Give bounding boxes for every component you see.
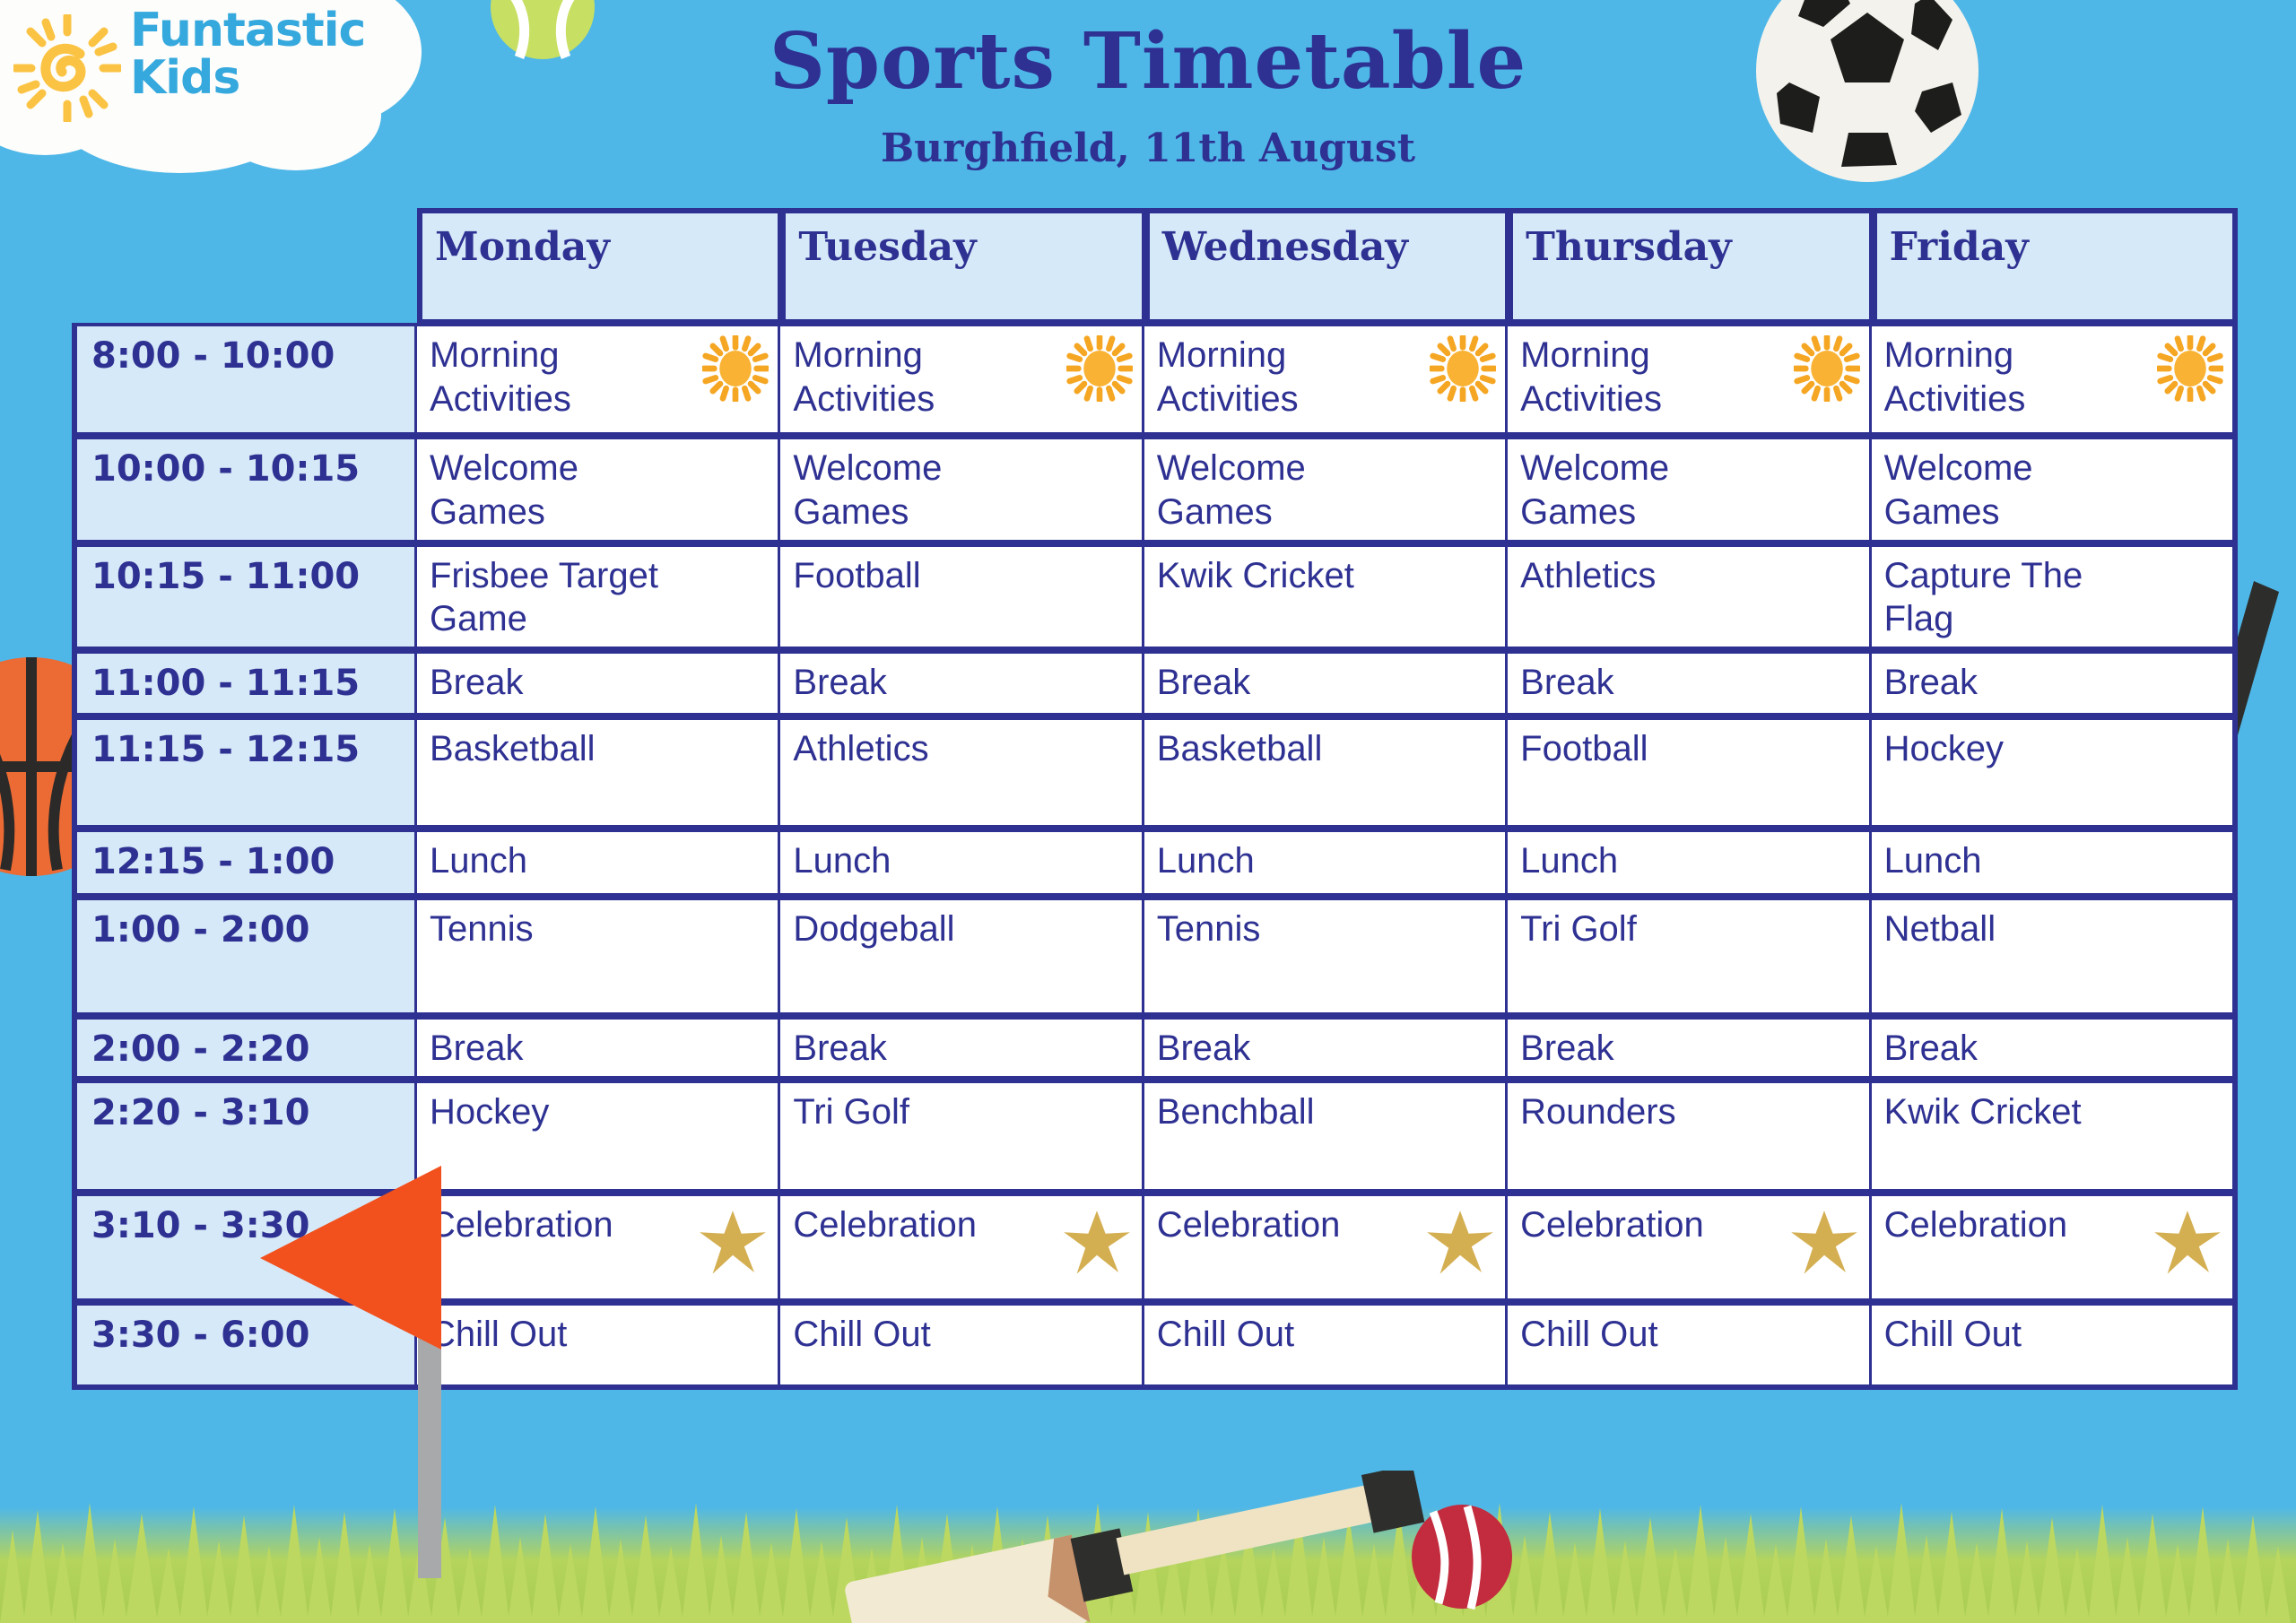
activity-label: Celebration [1520, 1203, 1704, 1247]
column-header-friday: Friday [1872, 208, 2238, 323]
golf-flag-icon [251, 1166, 466, 1578]
activity-cell: Lunch [417, 829, 780, 897]
column-header-thursday: Thursday [1508, 208, 1871, 323]
time-slot-label: 10:00 - 10:15 [72, 436, 417, 543]
activity-cell: Tennis [1144, 897, 1508, 1016]
activity-cell: Athletics [1508, 543, 1871, 651]
sun-icon [1794, 335, 1860, 412]
activity-cell: Athletics [780, 716, 1144, 829]
activity-cell: Football [780, 543, 1144, 651]
activity-cell: Basketball [417, 716, 780, 829]
activity-cell: Break [1508, 650, 1871, 716]
activity-cell: Dodgeball [780, 897, 1144, 1016]
activity-label: Capture The Flag [1884, 554, 2149, 642]
activity-cell: Basketball [1144, 716, 1508, 829]
activity-cell: Chill Out [1144, 1302, 1508, 1390]
star-icon [1061, 1205, 1133, 1293]
activity-cell: Capture The Flag [1872, 543, 2238, 651]
time-slot-label: 11:15 - 12:15 [72, 716, 417, 829]
activity-label: Break [1157, 1027, 1251, 1071]
activity-cell: Break [417, 1016, 780, 1080]
activity-cell: Frisbee Target Game [417, 543, 780, 651]
activity-label: Welcome Games [793, 447, 1057, 534]
activity-label: Break [430, 661, 524, 705]
activity-label: Chill Out [1884, 1313, 2022, 1357]
activity-cell: Break [780, 1016, 1144, 1080]
activity-cell: Chill Out [1872, 1302, 2238, 1390]
time-slot-label: 11:00 - 11:15 [72, 650, 417, 716]
activity-cell: Lunch [780, 829, 1144, 897]
timetable-row: 10:00 - 10:15Welcome GamesWelcome GamesW… [72, 436, 2238, 543]
column-header-tuesday: Tuesday [780, 208, 1144, 323]
activity-label: Basketball [1157, 727, 1323, 771]
activity-label: Kwik Cricket [1157, 554, 1354, 598]
timetable-row: 2:00 - 2:20BreakBreakBreakBreakBreak [72, 1016, 2238, 1080]
activity-cell: Kwik Cricket [1872, 1080, 2238, 1193]
time-slot-label: 1:00 - 2:00 [72, 897, 417, 1016]
activity-cell: Netball [1872, 897, 2238, 1016]
activity-cell: Celebration [780, 1193, 1144, 1302]
activity-label: Welcome Games [430, 447, 694, 534]
time-slot-label: 12:15 - 1:00 [72, 829, 417, 897]
activity-label: Kwik Cricket [1884, 1090, 2082, 1134]
activity-cell: Kwik Cricket [1144, 543, 1508, 651]
activity-cell: Break [1872, 1016, 2238, 1080]
activity-label: Break [793, 661, 887, 705]
star-icon [2152, 1205, 2223, 1293]
activity-cell: Morning Activities [1508, 323, 1871, 436]
activity-label: Lunch [430, 839, 527, 883]
activity-label: Celebration [1884, 1203, 2068, 1247]
activity-cell: Welcome Games [1508, 436, 1871, 543]
activity-cell: Rounders [1508, 1080, 1871, 1193]
activity-label: Chill Out [1157, 1313, 1294, 1357]
activity-cell: Welcome Games [780, 436, 1144, 543]
star-icon [1424, 1205, 1496, 1293]
activity-cell: Lunch [1144, 829, 1508, 897]
star-icon [697, 1205, 769, 1293]
activity-label: Hockey [1884, 727, 2004, 771]
activity-cell: Morning Activities [780, 323, 1144, 436]
activity-cell: Break [1144, 650, 1508, 716]
activity-label: Break [793, 1027, 887, 1071]
activity-label: Morning Activities [1520, 334, 1785, 421]
activity-label: Tennis [1157, 907, 1261, 951]
activity-cell: Break [1872, 650, 2238, 716]
activity-cell: Lunch [1508, 829, 1871, 897]
activity-label: Break [1884, 1027, 1979, 1071]
sun-icon [702, 335, 769, 412]
activity-label: Celebration [793, 1203, 977, 1247]
activity-label: Break [1520, 1027, 1614, 1071]
activity-cell: Welcome Games [1144, 436, 1508, 543]
activity-cell: Welcome Games [1872, 436, 2238, 543]
timetable-row: 11:00 - 11:15BreakBreakBreakBreakBreak [72, 650, 2238, 716]
activity-cell: Celebration [417, 1193, 780, 1302]
sun-icon [2157, 335, 2223, 412]
header-corner-cell [72, 208, 417, 323]
page-title: Sports Timetable [0, 16, 2296, 107]
column-header-monday: Monday [417, 208, 780, 323]
time-slot-label: 2:00 - 2:20 [72, 1016, 417, 1080]
activity-cell: Tri Golf [780, 1080, 1144, 1193]
table-header-row: Monday Tuesday Wednesday Thursday Friday [72, 208, 2238, 323]
activity-label: Football [793, 554, 920, 598]
activity-cell: Hockey [417, 1080, 780, 1193]
activity-cell: Morning Activities [417, 323, 780, 436]
activity-label: Break [1520, 661, 1614, 705]
activity-cell: Chill Out [1508, 1302, 1871, 1390]
activity-cell: Football [1508, 716, 1871, 829]
activity-label: Celebration [1157, 1203, 1341, 1247]
timetable-row: 8:00 - 10:00Morning ActivitiesMorning Ac… [72, 323, 2238, 436]
activity-label: Welcome Games [1157, 447, 1422, 534]
activity-cell: Benchball [1144, 1080, 1508, 1193]
activity-cell: Celebration [1872, 1193, 2238, 1302]
activity-label: Lunch [793, 839, 891, 883]
timetable-row: 11:15 - 12:15BasketballAthleticsBasketba… [72, 716, 2238, 829]
timetable-row: 1:00 - 2:00TennisDodgeballTennisTri Golf… [72, 897, 2238, 1016]
activity-label: Dodgeball [793, 907, 954, 951]
activity-cell: Tri Golf [1508, 897, 1871, 1016]
activity-label: Lunch [1157, 839, 1255, 883]
activity-label: Lunch [1520, 839, 1618, 883]
time-slot-label: 8:00 - 10:00 [72, 323, 417, 436]
activity-cell: Tennis [417, 897, 780, 1016]
activity-label: Morning Activities [793, 334, 1057, 421]
activity-cell: Break [780, 650, 1144, 716]
activity-cell: Morning Activities [1872, 323, 2238, 436]
activity-cell: Break [1144, 1016, 1508, 1080]
activity-label: Lunch [1884, 839, 1982, 883]
activity-label: Athletics [793, 727, 928, 771]
activity-cell: Celebration [1144, 1193, 1508, 1302]
activity-cell: Break [1508, 1016, 1871, 1080]
activity-label: Hockey [430, 1090, 549, 1134]
activity-label: Athletics [1520, 554, 1656, 598]
activity-label: Welcome Games [1884, 447, 2149, 534]
activity-label: Basketball [430, 727, 596, 771]
activity-label: Morning Activities [1157, 334, 1422, 421]
time-slot-label: 10:15 - 11:00 [72, 543, 417, 651]
activity-label: Netball [1884, 907, 1996, 951]
activity-cell: Chill Out [780, 1302, 1144, 1390]
activity-cell: Break [417, 650, 780, 716]
activity-label: Football [1520, 727, 1648, 771]
star-icon [1788, 1205, 1860, 1293]
activity-label: Tri Golf [793, 1090, 909, 1134]
column-header-wednesday: Wednesday [1144, 208, 1508, 323]
activity-label: Break [1157, 661, 1251, 705]
activity-cell: Morning Activities [1144, 323, 1508, 436]
page-subtitle: Burghfield, 11th August [0, 126, 2296, 171]
activity-label: Tri Golf [1520, 907, 1637, 951]
sun-icon [1430, 335, 1496, 412]
activity-label: Benchball [1157, 1090, 1315, 1134]
activity-label: Morning Activities [1884, 334, 2149, 421]
timetable-row: 10:15 - 11:00Frisbee Target GameFootball… [72, 543, 2238, 651]
activity-label: Break [1884, 661, 1979, 705]
activity-cell: Chill Out [417, 1302, 780, 1390]
activity-cell: Lunch [1872, 829, 2238, 897]
poster-canvas: Funtastic Kids Sports Timetable Burghfie… [0, 0, 2296, 1623]
activity-label: Tennis [430, 907, 534, 951]
activity-label: Chill Out [793, 1313, 930, 1357]
activity-cell: Hockey [1872, 716, 2238, 829]
activity-label: Welcome Games [1520, 447, 1785, 534]
cricket-bat-and-ball-icon [834, 1471, 1516, 1623]
timetable-row: 12:15 - 1:00LunchLunchLunchLunchLunch [72, 829, 2238, 897]
activity-label: Rounders [1520, 1090, 1675, 1134]
activity-cell: Celebration [1508, 1193, 1871, 1302]
sun-icon [1066, 335, 1133, 412]
activity-label: Break [430, 1027, 524, 1071]
activity-cell: Welcome Games [417, 436, 780, 543]
activity-label: Frisbee Target Game [430, 554, 694, 642]
activity-label: Chill Out [1520, 1313, 1657, 1357]
activity-label: Morning Activities [430, 334, 694, 421]
